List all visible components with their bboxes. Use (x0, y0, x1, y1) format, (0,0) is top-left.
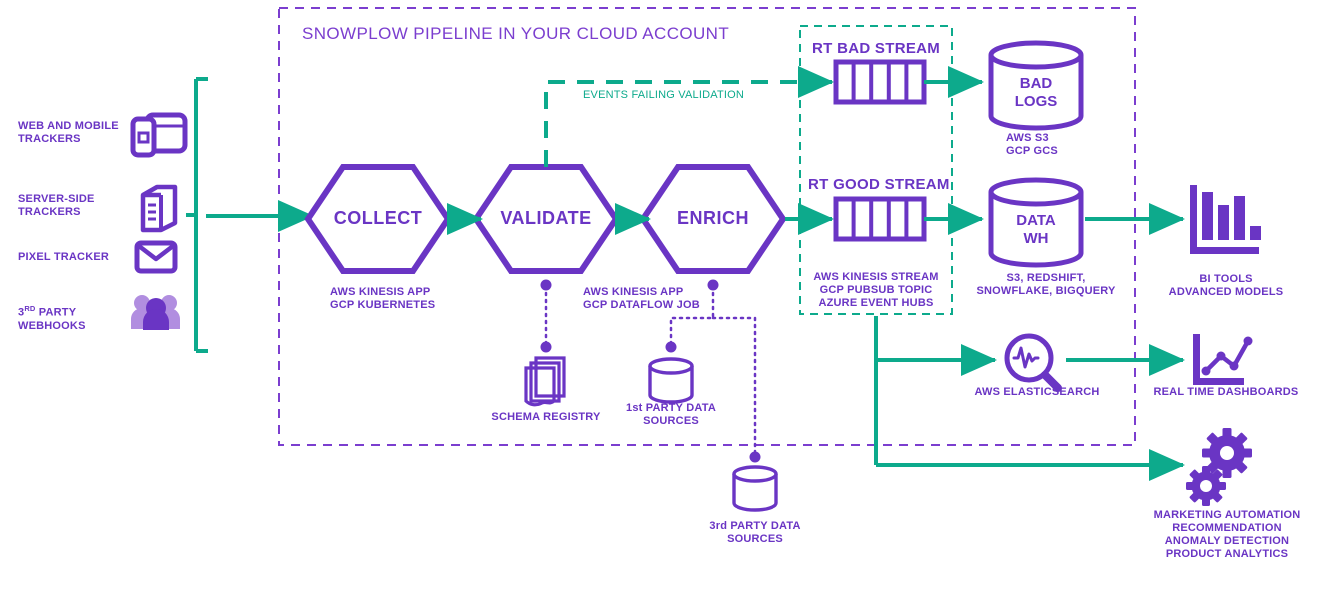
rt-good-stream-box (836, 199, 924, 239)
connector-dot-validate (541, 280, 552, 291)
connector-dot-schema-registry (541, 342, 552, 353)
envelope-icon (137, 243, 175, 271)
people-group-icon (131, 295, 180, 330)
stage-label-enrich: ENRICH (643, 208, 783, 229)
bar-chart-icon (1190, 185, 1261, 254)
rt-bad-stream-box (836, 62, 924, 102)
document-stack-icon (526, 358, 564, 405)
connector-dot-first-party (666, 342, 677, 353)
schema-registry-label: SCHEMA REGISTRY (470, 411, 622, 424)
source-label-pixel-tracker: PIXEL TRACKER (18, 251, 133, 264)
gears-icon (1186, 428, 1252, 506)
first-party-data-sources-label: 1st PARTY DATA SOURCES (608, 402, 734, 428)
third-party-cylinder (734, 467, 776, 510)
pipeline-boundary-title: SNOWPLOW PIPELINE IN YOUR CLOUD ACCOUNT (302, 24, 729, 44)
line-chart-icon (1193, 334, 1253, 385)
server-stack-icon (143, 187, 175, 230)
sources-bracket (186, 79, 208, 351)
third-party-data-sources-label: 3rd PARTY DATA SOURCES (692, 520, 818, 546)
output-label-real-time-dashboards: REAL TIME DASHBOARDS (1140, 386, 1312, 399)
rt-bad-stream-title: RT BAD STREAM (812, 40, 940, 57)
rt-good-stream-title: RT GOOD STREAM (808, 176, 950, 193)
mobile-browser-icon (133, 115, 185, 155)
aws-elasticsearch-label: AWS ELASTICSEARCH (962, 386, 1112, 399)
stage-label-collect: COLLECT (308, 208, 448, 229)
stage-caption-validate: AWS KINESIS APP GCP DATAFLOW JOB (583, 286, 753, 312)
source-label-web-mobile-trackers: WEB AND MOBILE TRACKERS (18, 120, 128, 146)
bad-logs-caption: AWS S3 GCP GCS (1006, 132, 1136, 158)
diagram-canvas: SNOWPLOW PIPELINE IN YOUR CLOUD ACCOUNT … (0, 0, 1317, 592)
data-wh-label: DATA WH (986, 212, 1086, 248)
connector-dot-third-party (750, 452, 761, 463)
output-label-marketing-automation: MARKETING AUTOMATION RECOMMENDATION ANOM… (1138, 509, 1316, 561)
stage-caption-collect: AWS KINESIS APP GCP KUBERNETES (330, 286, 490, 312)
flow-label-events-failing-validation: EVENTS FAILING VALIDATION (583, 89, 744, 101)
source-label-server-side-trackers: SERVER-SIDE TRACKERS (18, 193, 128, 219)
stage-label-validate: VALIDATE (476, 208, 616, 229)
webhooks-ordinal-suffix: RD (24, 304, 35, 313)
rt-streams-caption: AWS KINESIS STREAM GCP PUBSUB TOPIC AZUR… (806, 271, 946, 310)
data-wh-caption: S3, REDSHIFT, SNOWFLAKE, BIGQUERY (960, 272, 1132, 298)
magnifier-pulse-icon (1007, 336, 1058, 388)
source-label-third-party-webhooks: 3RD PARTY WEBHOOKS (18, 302, 130, 333)
output-label-bi-tools: BI TOOLS ADVANCED MODELS (1146, 273, 1306, 299)
first-party-cylinder (650, 359, 692, 402)
bad-logs-label: BAD LOGS (986, 75, 1086, 111)
